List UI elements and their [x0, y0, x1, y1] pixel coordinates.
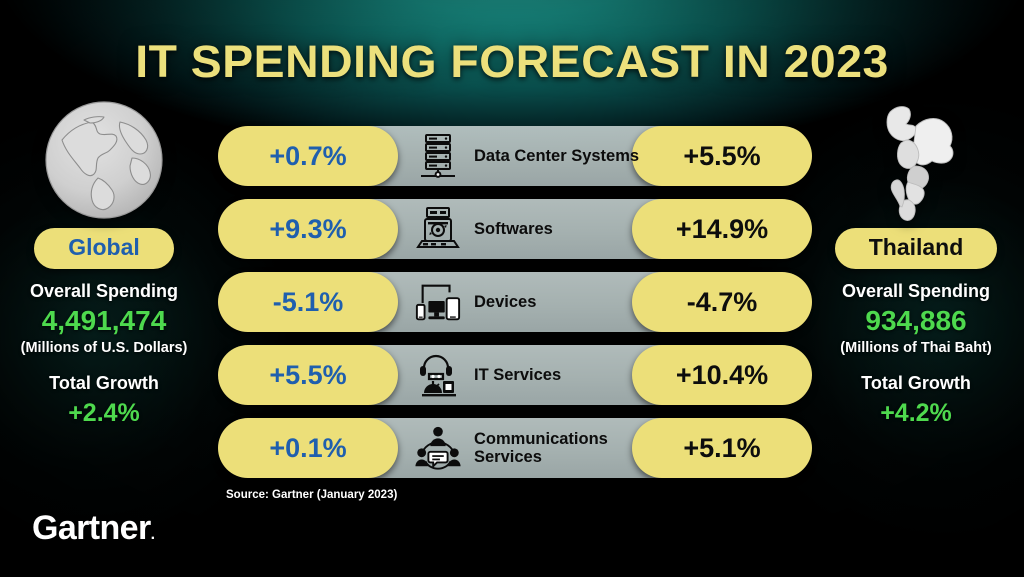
table-row: +9.3% +14.9% — [218, 199, 812, 259]
global-total-growth-label: Total Growth — [0, 373, 208, 394]
global-overall-spending-value: 4,491,474 — [0, 306, 208, 337]
source-note: Source: Gartner (January 2023) — [226, 489, 397, 501]
thailand-overall-spending-value: 934,886 — [812, 306, 1020, 337]
server-rack-icon — [414, 132, 462, 180]
table-row: -5.1% -4.7% — [218, 272, 812, 332]
global-overall-spending-unit: (Millions of U.S. Dollars) — [0, 340, 208, 357]
global-value-pill: +0.7% — [218, 126, 398, 186]
table-row: +0.7% +5.5% — [218, 126, 812, 186]
it-support-headset-icon — [414, 351, 462, 399]
global-total-growth-value: +2.4% — [0, 400, 208, 428]
globe-icon — [0, 96, 208, 224]
row-center: Data Center Systems — [414, 126, 664, 186]
infographic-canvas: IT SPENDING FORECAST IN 2023 — [0, 0, 1024, 577]
gartner-logo-text: Gartner — [32, 509, 151, 547]
row-center: Softwares — [414, 199, 664, 259]
table-row: +0.1% +5.1% — [218, 418, 812, 478]
category-label: Devices — [474, 293, 536, 311]
thailand-panel: Thailand Overall Spending 934,886 (Milli… — [812, 96, 1020, 428]
thailand-map-icon — [812, 96, 1020, 224]
thailand-overall-spending-label: Overall Spending — [812, 281, 1020, 302]
row-center: Communications Services — [414, 418, 664, 478]
global-value-pill: -5.1% — [218, 272, 398, 332]
global-panel: Global Overall Spending 4,491,474 (Milli… — [0, 96, 208, 428]
thailand-total-growth-label: Total Growth — [812, 373, 1020, 394]
devices-icon — [414, 278, 462, 326]
category-label: Softwares — [474, 220, 553, 238]
category-rows: +0.7% +5.5% — [218, 126, 812, 491]
software-laptop-icon — [414, 205, 462, 253]
category-label: Communications Services — [474, 430, 644, 467]
thailand-overall-spending-unit: (Millions of Thai Baht) — [812, 340, 1020, 357]
global-overall-spending-label: Overall Spending — [0, 281, 208, 302]
row-center: Devices — [414, 272, 664, 332]
global-value-pill: +0.1% — [218, 418, 398, 478]
global-name-pill: Global — [34, 228, 174, 269]
page-title: IT SPENDING FORECAST IN 2023 — [0, 36, 1024, 88]
category-label: Data Center Systems — [474, 147, 639, 165]
thailand-name-pill: Thailand — [835, 228, 998, 269]
row-center: IT Services — [414, 345, 664, 405]
global-value-pill: +9.3% — [218, 199, 398, 259]
thailand-total-growth-value: +4.2% — [812, 400, 1020, 428]
category-label: IT Services — [474, 366, 561, 384]
table-row: +5.5% +10.4% — [218, 345, 812, 405]
global-value-pill: +5.5% — [218, 345, 398, 405]
registered-mark: . — [151, 526, 155, 543]
gartner-logo: Gartner. — [32, 511, 154, 545]
communications-people-icon — [414, 424, 462, 472]
